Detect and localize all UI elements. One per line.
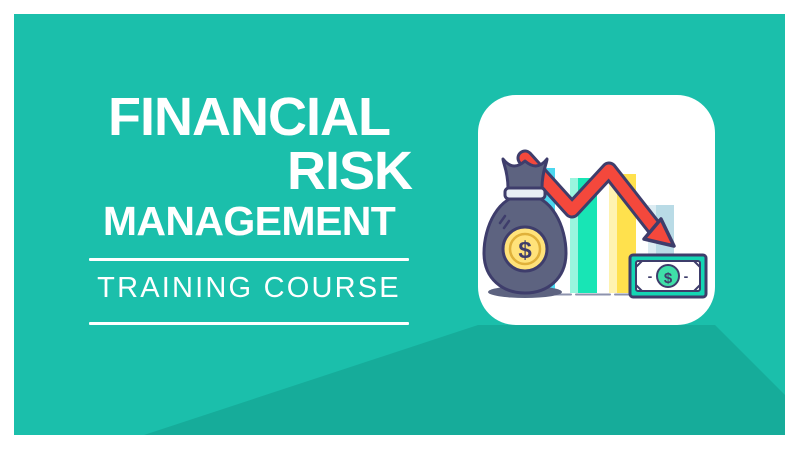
page-title-line-2: RISK	[74, 146, 424, 198]
declining-chart-with-money-icon: $ $ - -	[478, 95, 715, 325]
banknote-right-dash: -	[684, 268, 689, 284]
divider-below-subtitle	[89, 322, 409, 325]
subtitle-training-course: TRAINING COURSE	[74, 272, 424, 305]
money-bag-dollar-symbol: $	[518, 237, 532, 264]
slide-root: FINANCIAL RISK MANAGEMENT TRAINING COURS…	[0, 0, 800, 450]
slide-canvas: FINANCIAL RISK MANAGEMENT TRAINING COURS…	[14, 14, 785, 435]
divider-above-subtitle	[89, 258, 409, 261]
banknote-dollar-symbol: $	[664, 270, 673, 287]
icon-card: $ $ - -	[478, 95, 715, 325]
title-block: FINANCIAL RISK MANAGEMENT TRAINING COURS…	[74, 92, 424, 325]
page-title-line-1: FINANCIAL	[74, 92, 424, 144]
page-title-line-3: MANAGEMENT	[74, 202, 424, 241]
banknote-icon: $ - -	[630, 255, 706, 297]
banknote-left-dash: -	[648, 268, 653, 284]
